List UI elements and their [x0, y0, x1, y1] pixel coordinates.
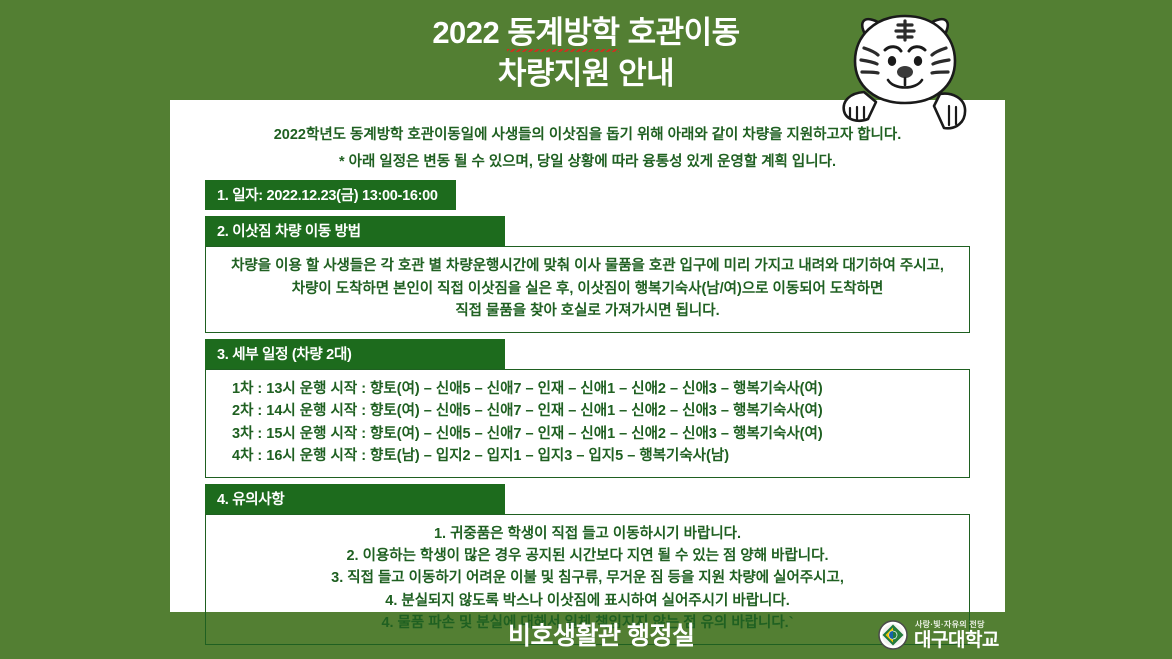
title-line-1: 2022 동계방학 호관이동 [0, 12, 1172, 53]
footer: 비호생활관 행정실 사랑·빛·자유의 전당 대구대학교 [0, 612, 1172, 659]
schedule-row: 2차 : 14시 운행 시작 : 향토(여) – 신애5 – 신애7 – 인재 … [232, 400, 959, 422]
notice-row: 2. 이용하는 학생이 많은 경우 공지된 시간보다 지연 될 수 있는 점 양… [216, 545, 959, 567]
notice-row: 1. 귀중품은 학생이 직접 들고 이동하시기 바랍니다. [216, 523, 959, 545]
daegu-university-emblem-icon [878, 620, 908, 650]
method-line: 직접 물품을 찾아 호실로 가져가시면 됩니다. [216, 300, 959, 322]
section-notice-heading: 4. 유의사항 [205, 484, 505, 514]
title-line-2: 차량지원 안내 [0, 53, 1172, 94]
intro-line-1: 2022학년도 동계방학 호관이동일에 사생들의 이삿짐을 돕기 위해 아래와 … [170, 126, 1005, 144]
section-method: 2. 이삿짐 차량 이동 방법 차량을 이용 할 사생들은 각 호관 별 차량운… [170, 216, 1005, 332]
schedule-row: 3차 : 15시 운행 시작 : 향토(여) – 신애5 – 신애7 – 인재 … [232, 423, 959, 445]
university-logo: 사랑·빛·자유의 전당 대구대학교 [878, 620, 999, 650]
page-title: 2022 동계방학 호관이동 차량지원 안내 [0, 12, 1172, 94]
method-line: 차량이 도착하면 본인이 직접 이삿짐을 실은 후, 이삿짐이 행복기숙사(남/… [216, 278, 959, 300]
spellcheck-underline: 동계방학 [507, 15, 619, 52]
section-schedule-box: 1차 : 13시 운행 시작 : 향토(여) – 신애5 – 신애7 – 인재 … [205, 369, 970, 478]
section-date: 1. 일자: 2022.12.23(금) 13:00-16:00 [170, 180, 1005, 210]
footer-office-name: 비호생활관 행정실 [508, 616, 694, 652]
intro-line-2: * 아래 일정은 변동 될 수 있으며, 당일 상황에 따라 융통성 있게 운영… [170, 153, 1005, 171]
logo-tagline: 사랑·빛·자유의 전당 [915, 621, 999, 629]
intro-text: 2022학년도 동계방학 호관이동일에 사생들의 이삿짐을 돕기 위해 아래와 … [170, 100, 1005, 171]
logo-university-name: 대구대학교 [914, 631, 999, 650]
notice-row: 3. 직접 들고 이동하기 어려운 이불 및 침구류, 무거운 짐 등을 지원 … [216, 567, 959, 589]
schedule-row: 1차 : 13시 운행 시작 : 향토(여) – 신애5 – 신애7 – 인재 … [232, 378, 959, 400]
section-method-box: 차량을 이용 할 사생들은 각 호관 별 차량운행시간에 맞춰 이사 물품을 호… [205, 246, 970, 332]
section-schedule: 3. 세부 일정 (차량 2대) 1차 : 13시 운행 시작 : 향토(여) … [170, 339, 1005, 478]
section-schedule-heading: 3. 세부 일정 (차량 2대) [205, 339, 505, 369]
content-panel: 2022학년도 동계방학 호관이동일에 사생들의 이삿짐을 돕기 위해 아래와 … [170, 100, 1005, 612]
notice-row: 4. 분실되지 않도록 박스나 이삿짐에 표시하여 실어주시기 바랍니다. [216, 590, 959, 612]
section-method-heading: 2. 이삿짐 차량 이동 방법 [205, 216, 505, 246]
method-line: 차량을 이용 할 사생들은 각 호관 별 차량운행시간에 맞춰 이사 물품을 호… [216, 255, 959, 277]
schedule-row: 4차 : 16시 운행 시작 : 향토(남) – 입지2 – 입지1 – 입지3… [232, 445, 959, 467]
section-date-heading: 1. 일자: 2022.12.23(금) 13:00-16:00 [205, 180, 456, 210]
